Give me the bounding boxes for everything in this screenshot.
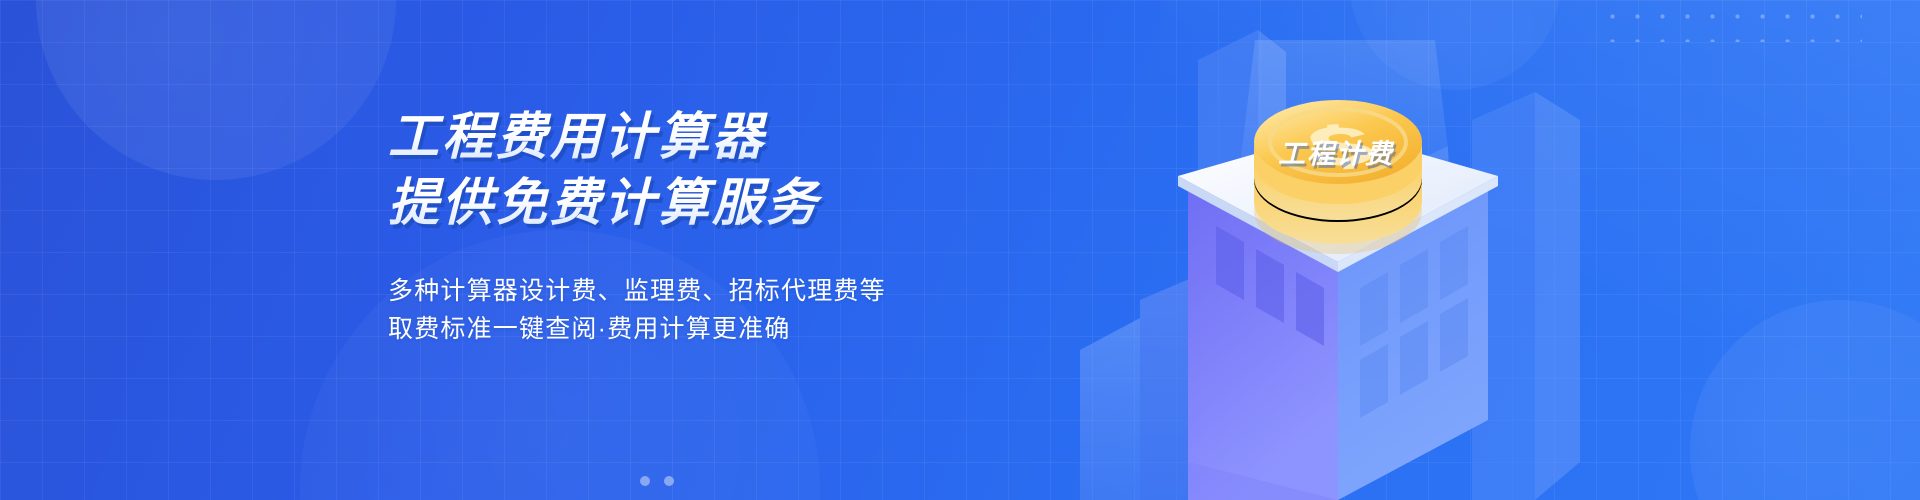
headline-line-2: 提供免费计算服务 (388, 174, 1028, 232)
hero-banner: 工程计费 工程费用计算器 提供免费计算服务 多种计算器设计费、监理费、招标代理费… (0, 0, 1920, 500)
carousel-dot-2[interactable] (664, 476, 674, 486)
carousel-dot-1[interactable] (640, 476, 650, 486)
gold-coin-stack (1254, 100, 1422, 254)
decorative-circle-bottom-right (1690, 300, 1920, 500)
illustration-badge-label: 工程计费 (1278, 132, 1394, 171)
subtitle-line-1: 多种计算器设计费、监理费、招标代理费等 (388, 272, 1028, 310)
subtitle-line-2: 取费标准一键查阅·费用计算更准确 (388, 310, 1028, 348)
decorative-circle-top-left (36, 0, 396, 180)
dot-matrix-pattern (1600, 4, 1862, 42)
carousel-pagination[interactable] (640, 476, 674, 486)
banner-copy-block: 工程费用计算器 提供免费计算服务 多种计算器设计费、监理费、招标代理费等 取费标… (388, 108, 1028, 348)
isometric-building-illustration (1080, 0, 1600, 500)
headline-line-1: 工程费用计算器 (388, 108, 1028, 166)
subtitle-block: 多种计算器设计费、监理费、招标代理费等 取费标准一键查阅·费用计算更准确 (388, 272, 1028, 348)
